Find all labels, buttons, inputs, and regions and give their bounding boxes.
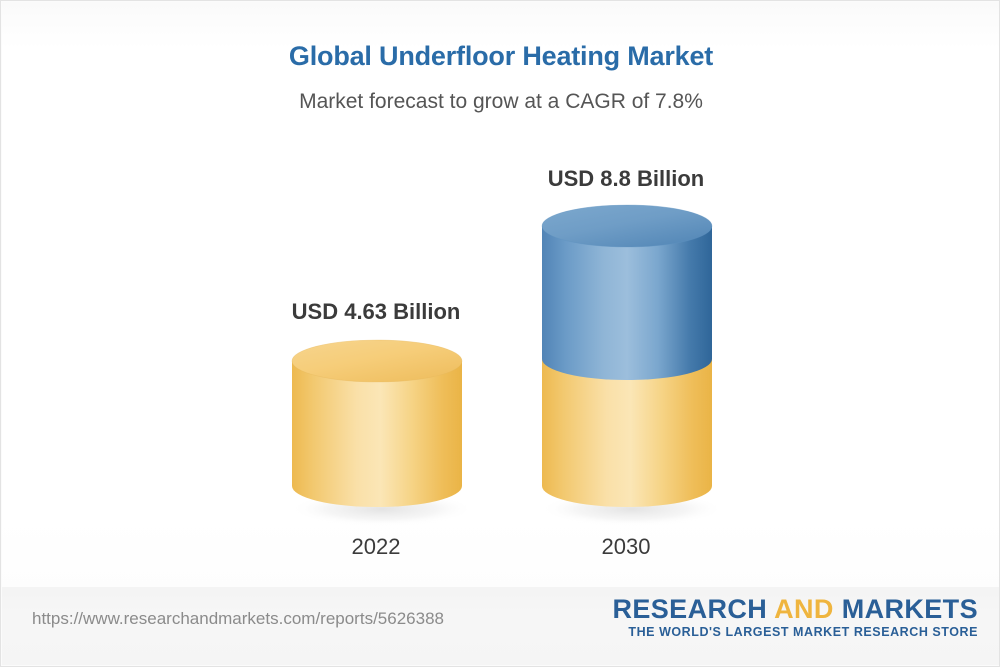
plot-area: USD 4.63 Billion 2022 [1, 1, 1000, 589]
footer: https://www.researchandmarkets.com/repor… [2, 587, 1000, 665]
research-and-markets-logo[interactable]: RESEARCH AND MARKETS THE WORLD'S LARGEST… [612, 595, 978, 639]
logo-tagline: THE WORLD'S LARGEST MARKET RESEARCH STOR… [612, 625, 978, 639]
logo-word-and: AND [767, 594, 842, 624]
bar-2022-category-label: 2022 [276, 534, 476, 560]
report-url[interactable]: https://www.researchandmarkets.com/repor… [32, 609, 444, 629]
logo-word-research: RESEARCH [612, 594, 767, 624]
bar-2022-cylinder[interactable] [284, 331, 470, 531]
logo-word-markets: MARKETS [842, 594, 978, 624]
bar-2030-category-label: 2030 [526, 534, 726, 560]
bar-2022-value-label: USD 4.63 Billion [256, 299, 496, 325]
logo-wordmark: RESEARCH AND MARKETS [612, 595, 978, 623]
bar-2030-value-label: USD 8.8 Billion [511, 166, 741, 192]
bar-2030-cylinder[interactable] [534, 196, 720, 531]
chart-page: Global Underfloor Heating Market Market … [0, 0, 1000, 667]
